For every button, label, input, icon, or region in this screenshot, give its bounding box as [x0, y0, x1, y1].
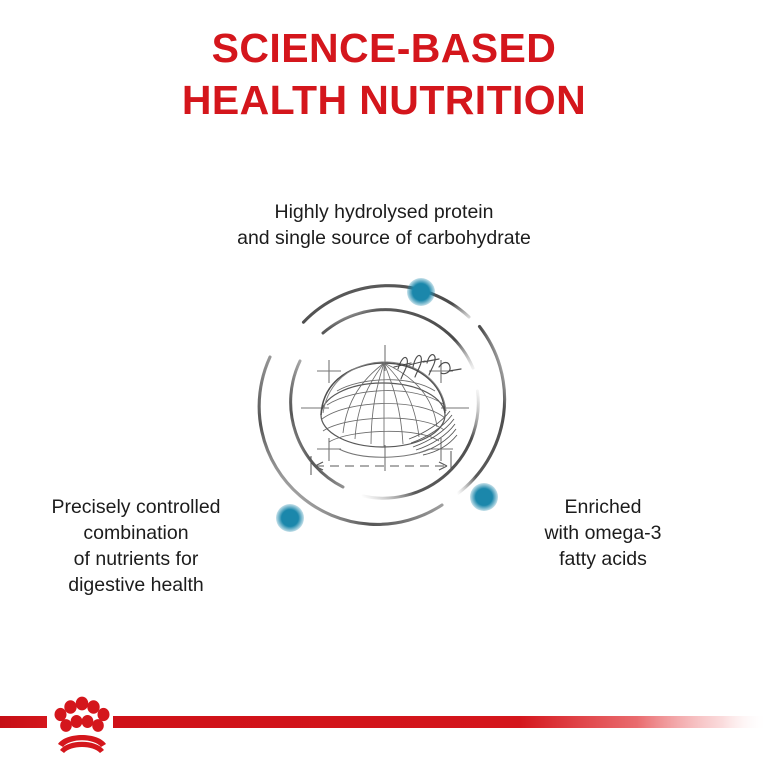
- marker-dot-top: [407, 278, 435, 306]
- title-line-1: SCIENCE-BASED: [0, 22, 768, 74]
- outer-ring-arcs: [259, 286, 504, 525]
- handwritten-annotation: [394, 355, 461, 379]
- page-root: SCIENCE-BASED HEALTH NUTRITION Highly hy…: [0, 0, 768, 768]
- kibble-diagram: [243, 263, 528, 548]
- brand-footer: [0, 688, 768, 768]
- marker-dot-left: [276, 504, 304, 532]
- feature-caption-left: Precisely controlled combination of nutr…: [10, 494, 262, 598]
- feature-caption-top: Highly hydrolysed protein and single sou…: [134, 199, 634, 251]
- kibble-sketch: [301, 345, 469, 471]
- royal-canin-crown-logo: [55, 697, 110, 753]
- kibble-body: [321, 362, 446, 447]
- title-line-2: HEALTH NUTRITION: [0, 74, 768, 126]
- marker-dot-right: [470, 483, 498, 511]
- dimension-line: [311, 451, 451, 475]
- footer-bar-left: [0, 716, 47, 728]
- feature-caption-right: Enriched with omega-3 fatty acids: [503, 494, 703, 572]
- footer-bar-right: [113, 716, 768, 728]
- page-title: SCIENCE-BASED HEALTH NUTRITION: [0, 22, 768, 126]
